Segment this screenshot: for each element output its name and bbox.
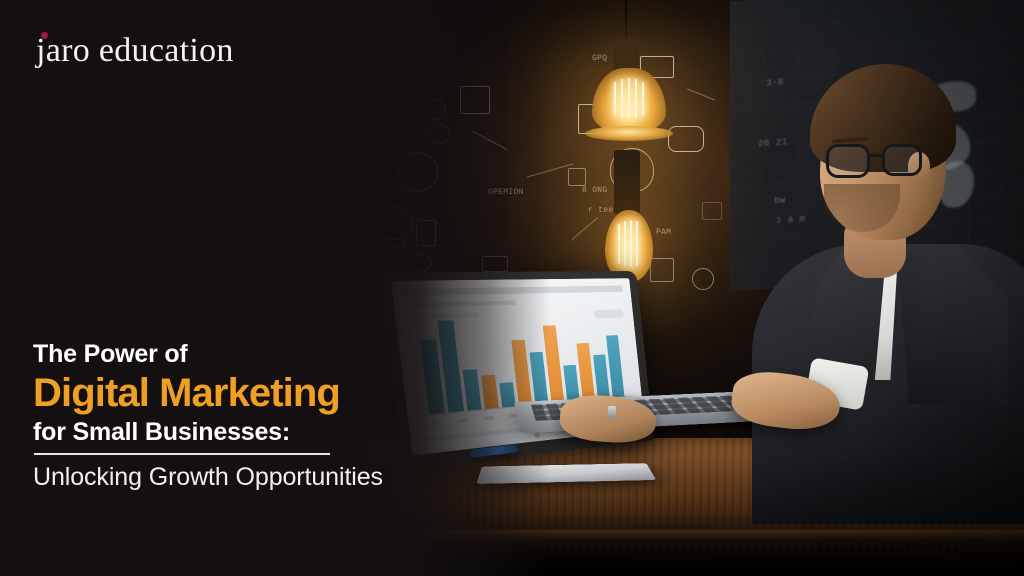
brand-logo-text: jaro education (36, 34, 234, 68)
headline-line-1: The Power of (33, 340, 503, 370)
headline-line-2-accent: Digital Marketing (33, 371, 503, 416)
marketing-banner: 3-8 26 21 bw 1 a m cosl vn (0, 0, 1024, 576)
headline-block: The Power of Digital Marketing for Small… (33, 340, 503, 492)
headline-subtitle: Unlocking Growth Opportunities (33, 462, 503, 492)
brand-logo[interactable]: jaro education (36, 34, 234, 68)
headline-line-3: for Small Businesses: (33, 417, 503, 447)
brand-logo-dot (41, 32, 48, 39)
headline-divider (34, 453, 330, 455)
